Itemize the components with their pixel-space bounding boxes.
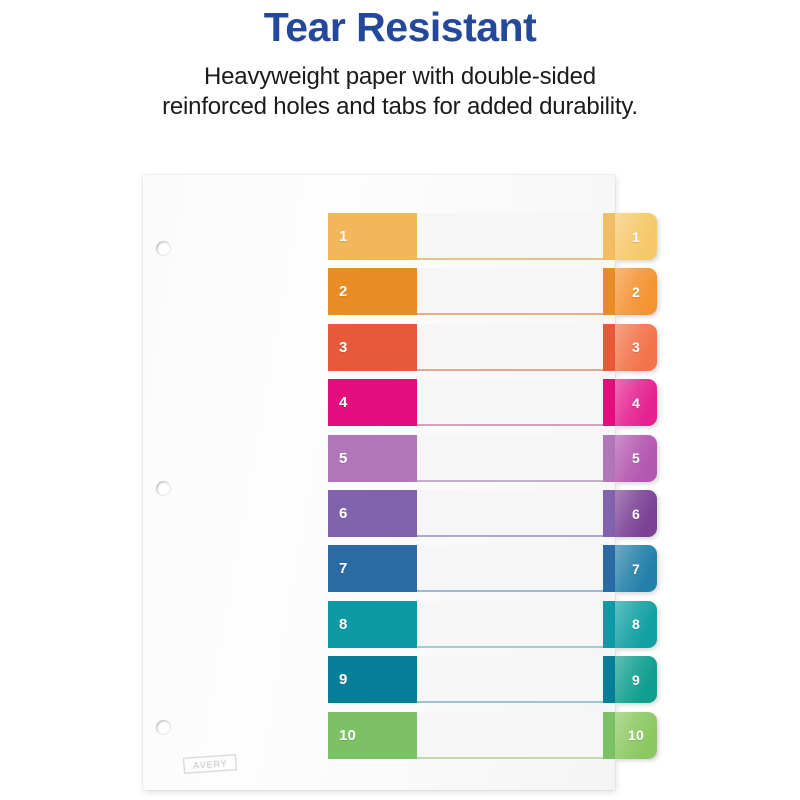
divider-number-block-2: 2	[328, 268, 417, 315]
divider-tab-label: 4	[632, 395, 640, 411]
divider-number-block-6: 6	[328, 490, 417, 537]
divider-row: 99	[143, 656, 615, 703]
product-image: 1122334455667788991010 AVERY	[143, 175, 615, 790]
divider-number-label: 2	[339, 283, 348, 300]
divider-edge-strip-4	[603, 379, 615, 426]
divider-write-strip	[417, 213, 603, 260]
divider-row: 22	[143, 268, 615, 315]
svg-text:AVERY: AVERY	[192, 758, 227, 771]
subtitle-line-2: reinforced holes and tabs for added dura…	[0, 92, 800, 122]
divider-edge-strip-5	[603, 435, 615, 482]
subtitle-line-1: Heavyweight paper with double-sided	[0, 62, 800, 92]
divider-strip-rule	[417, 313, 603, 315]
divider-tab-2[interactable]: 2	[615, 268, 657, 315]
divider-write-strip	[417, 545, 603, 592]
divider-number-block-10: 10	[328, 712, 417, 759]
divider-number-label: 6	[339, 505, 348, 522]
divider-row: 88	[143, 601, 615, 648]
divider-tab-label: 6	[632, 506, 640, 522]
divider-number-block-9: 9	[328, 656, 417, 703]
divider-tab-1[interactable]: 1	[615, 213, 657, 260]
divider-tab-label: 1	[632, 229, 640, 245]
divider-write-strip	[417, 601, 603, 648]
divider-tab-6[interactable]: 6	[615, 490, 657, 537]
divider-tab-9[interactable]: 9	[615, 656, 657, 703]
divider-strip-rule	[417, 646, 603, 648]
divider-edge-strip-7	[603, 545, 615, 592]
divider-tab-7[interactable]: 7	[615, 545, 657, 592]
divider-row-list: 1122334455667788991010	[143, 175, 615, 790]
divider-edge-strip-2	[603, 268, 615, 315]
divider-number-label: 9	[339, 671, 348, 688]
punch-hole-middle	[156, 481, 171, 496]
punch-hole-top	[156, 241, 171, 256]
divider-number-block-7: 7	[328, 545, 417, 592]
divider-strip-rule	[417, 258, 603, 260]
divider-tab-5[interactable]: 5	[615, 435, 657, 482]
divider-number-label: 5	[339, 450, 348, 467]
divider-write-strip	[417, 379, 603, 426]
header-text-block: Tear Resistant Heavyweight paper with do…	[0, 0, 800, 150]
divider-write-strip	[417, 656, 603, 703]
divider-number-block-1: 1	[328, 213, 417, 260]
page-title: Tear Resistant	[0, 0, 800, 50]
divider-edge-strip-8	[603, 601, 615, 648]
divider-tab-label: 10	[628, 727, 644, 743]
divider-tab-label: 3	[632, 339, 640, 355]
divider-edge-strip-9	[603, 656, 615, 703]
divider-write-strip	[417, 712, 603, 759]
divider-edge-strip-6	[603, 490, 615, 537]
divider-tab-label: 9	[632, 672, 640, 688]
divider-row: 77	[143, 545, 615, 592]
divider-row: 44	[143, 379, 615, 426]
divider-edge-strip-3	[603, 324, 615, 371]
divider-number-label: 10	[339, 727, 356, 744]
divider-row: 33	[143, 324, 615, 371]
divider-write-strip	[417, 435, 603, 482]
divider-row: 66	[143, 490, 615, 537]
divider-tab-10[interactable]: 10	[615, 712, 657, 759]
divider-strip-rule	[417, 535, 603, 537]
divider-number-label: 4	[339, 394, 348, 411]
divider-tab-4[interactable]: 4	[615, 379, 657, 426]
divider-number-block-8: 8	[328, 601, 417, 648]
divider-write-strip	[417, 324, 603, 371]
divider-row: 11	[143, 213, 615, 260]
divider-number-label: 3	[339, 339, 348, 356]
divider-strip-rule	[417, 369, 603, 371]
divider-number-block-4: 4	[328, 379, 417, 426]
divider-row: 1010	[143, 712, 615, 759]
punch-hole-bottom	[156, 720, 171, 735]
divider-edge-strip-1	[603, 213, 615, 260]
divider-tab-label: 5	[632, 450, 640, 466]
divider-tab-label: 8	[632, 616, 640, 632]
divider-row: 55	[143, 435, 615, 482]
divider-strip-rule	[417, 757, 603, 759]
divider-number-block-3: 3	[328, 324, 417, 371]
divider-number-label: 7	[339, 560, 348, 577]
divider-tab-label: 2	[632, 284, 640, 300]
divider-tab-3[interactable]: 3	[615, 324, 657, 371]
divider-strip-rule	[417, 480, 603, 482]
divider-number-label: 8	[339, 616, 348, 633]
divider-tab-8[interactable]: 8	[615, 601, 657, 648]
divider-strip-rule	[417, 590, 603, 592]
divider-number-label: 1	[339, 228, 348, 245]
divider-write-strip	[417, 490, 603, 537]
page-subtitle: Heavyweight paper with double-sided rein…	[0, 50, 800, 122]
divider-write-strip	[417, 268, 603, 315]
divider-edge-strip-10	[603, 712, 615, 759]
divider-strip-rule	[417, 701, 603, 703]
avery-logo: AVERY	[183, 754, 237, 774]
divider-strip-rule	[417, 424, 603, 426]
divider-tab-label: 7	[632, 561, 640, 577]
divider-number-block-5: 5	[328, 435, 417, 482]
